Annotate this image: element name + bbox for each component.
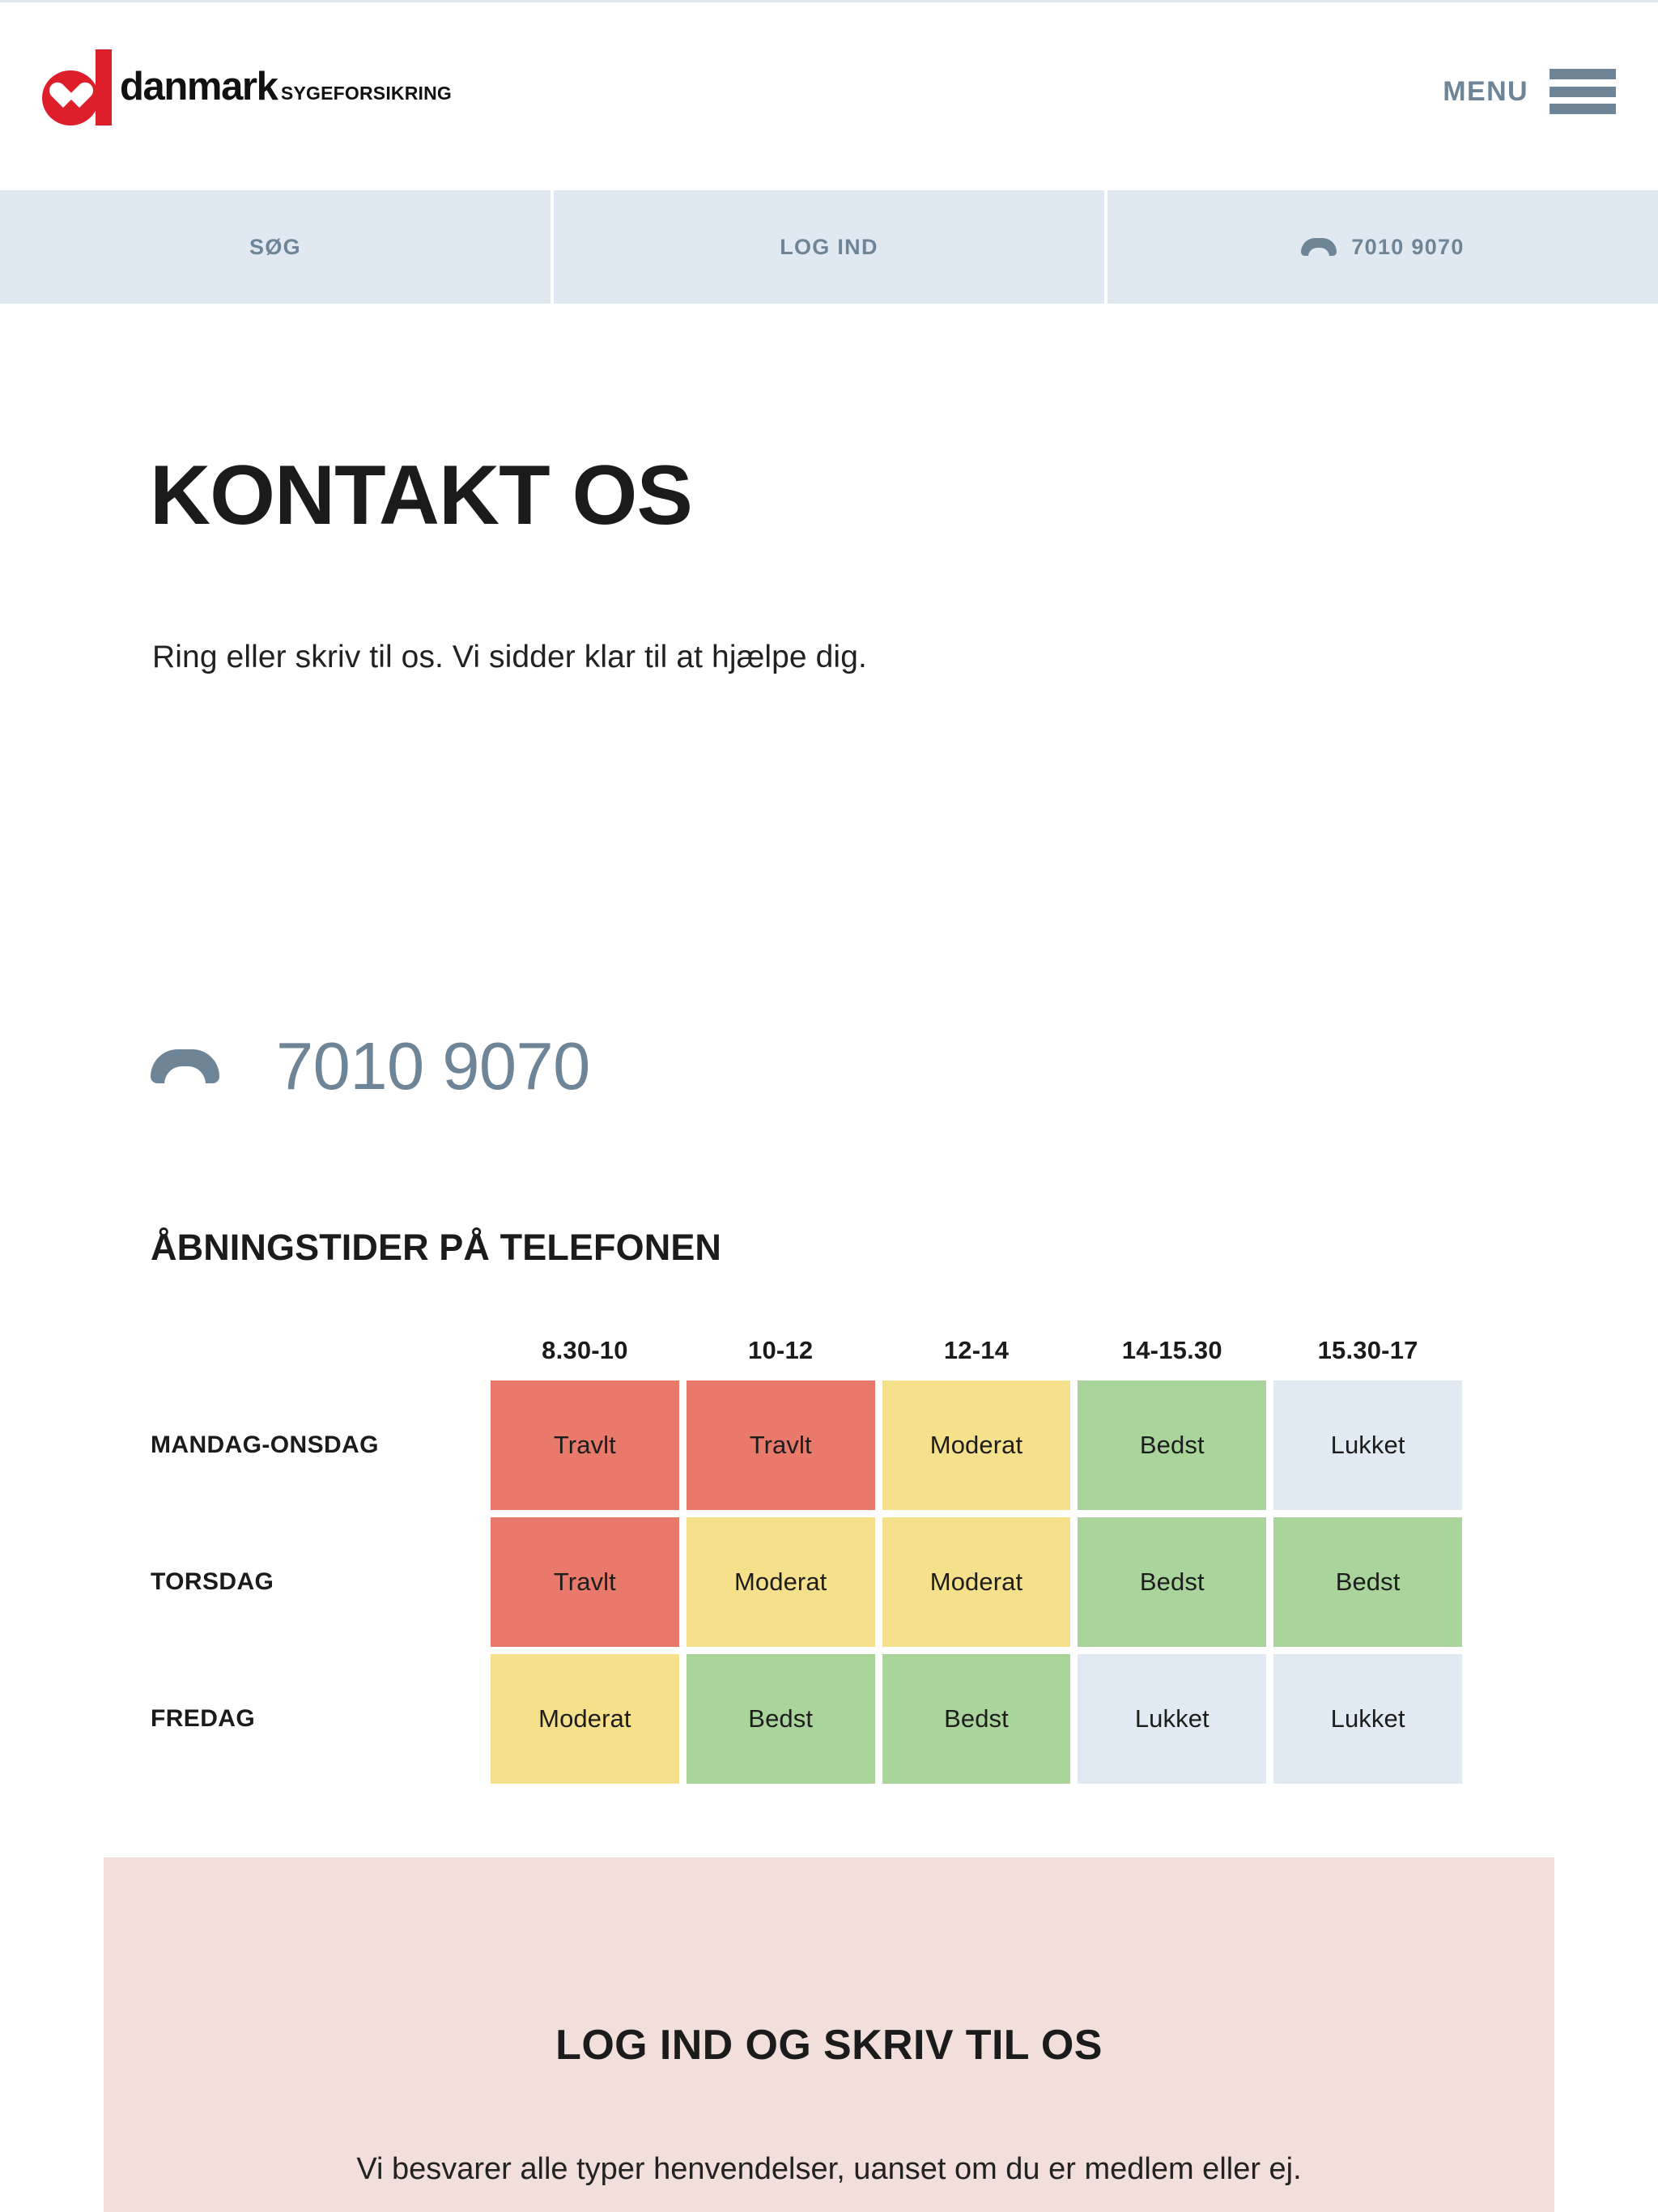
nav-item-login-label: LOG IND (780, 235, 878, 260)
danmark-d-heart-logo-icon (42, 49, 112, 125)
table-row: MANDAG-ONSDAG Travlt Travlt Moderat Beds… (151, 1380, 1462, 1510)
nav-item-phone-label: 7010 9070 (1351, 235, 1464, 260)
column-header: 15.30-17 (1273, 1336, 1462, 1365)
phone-icon (1301, 238, 1337, 256)
status-cell: Bedst (1078, 1517, 1266, 1647)
login-write-subtitle: Vi besvarer alle typer henvendelser, uan… (104, 2152, 1554, 2187)
page-root: danmark SYGEFORSIKRING MENU SØG LOG IND … (0, 0, 1658, 2212)
row-label: FREDAG (151, 1654, 491, 1784)
table-row: TORSDAG Travlt Moderat Moderat Bedst Bed… (151, 1517, 1462, 1647)
status-cell: Moderat (882, 1517, 1071, 1647)
row-label: MANDAG-ONSDAG (151, 1380, 491, 1510)
column-header: 12-14 (882, 1336, 1071, 1365)
nav-item-phone[interactable]: 7010 9070 (1107, 190, 1658, 304)
login-write-title: LOG IND OG SKRIV TIL OS (104, 2021, 1554, 2069)
phone-number: 7010 9070 (276, 1032, 590, 1100)
menu-label: MENU (1443, 76, 1528, 108)
status-cell: Bedst (1078, 1380, 1266, 1510)
nav-item-login[interactable]: LOG IND (554, 190, 1107, 304)
site-header: danmark SYGEFORSIKRING MENU (0, 0, 1658, 188)
utility-nav: SØG LOG IND 7010 9070 (0, 190, 1658, 304)
status-cell: Bedst (687, 1654, 875, 1784)
phone-call-link[interactable]: 7010 9070 (151, 1032, 590, 1100)
row-label: TORSDAG (151, 1517, 491, 1647)
status-cell: Travlt (687, 1380, 875, 1510)
hamburger-icon[interactable] (1550, 69, 1616, 114)
column-header: 10-12 (687, 1336, 875, 1365)
row-cells: Moderat Bedst Bedst Lukket Lukket (491, 1654, 1462, 1784)
table-row: FREDAG Moderat Bedst Bedst Lukket Lukket (151, 1654, 1462, 1784)
status-cell: Moderat (491, 1654, 679, 1784)
status-cell: Bedst (1273, 1517, 1462, 1647)
menu-button[interactable]: MENU (1443, 69, 1616, 114)
intro-text: Ring eller skriv til os. Vi sidder klar … (152, 640, 867, 675)
status-cell: Moderat (882, 1380, 1071, 1510)
status-cell: Moderat (687, 1517, 875, 1647)
schedule-title: ÅBNINGSTIDER PÅ TELEFONEN (151, 1227, 721, 1269)
nav-item-search[interactable]: SØG (0, 190, 554, 304)
column-header: 8.30-10 (491, 1336, 679, 1365)
row-cells: Travlt Travlt Moderat Bedst Lukket (491, 1380, 1462, 1510)
status-cell: Lukket (1273, 1380, 1462, 1510)
table-header-row: 8.30-10 10-12 12-14 14-15.30 15.30-17 (151, 1320, 1462, 1380)
status-cell: Lukket (1078, 1654, 1266, 1784)
status-cell: Bedst (882, 1654, 1071, 1784)
column-header: 14-15.30 (1078, 1336, 1266, 1365)
table-column-headers: 8.30-10 10-12 12-14 14-15.30 15.30-17 (491, 1336, 1462, 1365)
logo-name: danmark (120, 65, 277, 108)
status-cell: Travlt (491, 1517, 679, 1647)
phone-icon (151, 1049, 219, 1083)
logo-text: danmark SYGEFORSIKRING (120, 49, 452, 106)
logo-subtitle: SYGEFORSIKRING (281, 83, 452, 104)
login-write-panel: LOG IND OG SKRIV TIL OS Vi besvarer alle… (104, 1857, 1554, 2212)
status-cell: Lukket (1273, 1654, 1462, 1784)
opening-hours-table: 8.30-10 10-12 12-14 14-15.30 15.30-17 MA… (151, 1320, 1462, 1791)
nav-item-search-label: SØG (249, 235, 301, 260)
row-cells: Travlt Moderat Moderat Bedst Bedst (491, 1517, 1462, 1647)
page-title: KONTAKT OS (150, 453, 692, 538)
status-cell: Travlt (491, 1380, 679, 1510)
logo-link[interactable]: danmark SYGEFORSIKRING (42, 49, 452, 125)
